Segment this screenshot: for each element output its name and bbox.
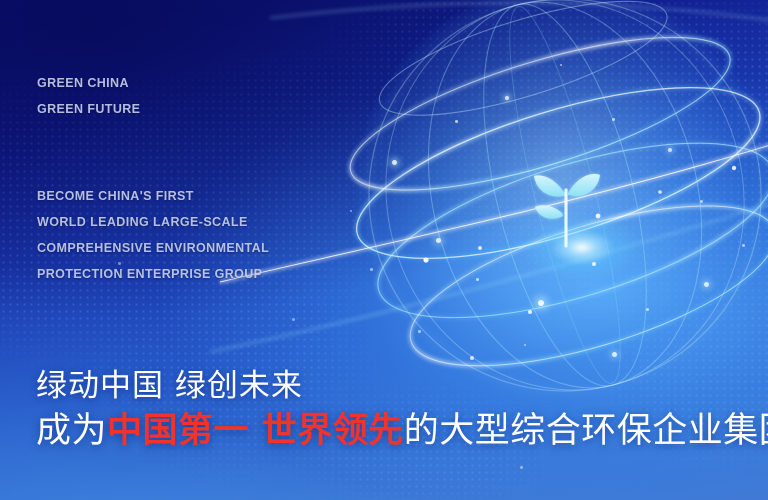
mission-line-2: WORLD LEADING LARGE-SCALE	[37, 209, 269, 235]
tagline-line-1: GREEN CHINA	[37, 70, 140, 96]
mission-line-1: BECOME CHINA'S FIRST	[37, 183, 269, 209]
english-mission-statement: BECOME CHINA'S FIRST WORLD LEADING LARGE…	[37, 183, 269, 287]
english-tagline: GREEN CHINA GREEN FUTURE	[37, 70, 140, 122]
mission-line-4: PROTECTION ENTERPRISE GROUP	[37, 261, 269, 287]
tagline-line-2: GREEN FUTURE	[37, 96, 140, 122]
green-sprout-icon	[524, 160, 608, 250]
hero-banner: GREEN CHINA GREEN FUTURE BECOME CHINA'S …	[0, 0, 768, 500]
headline-prefix: 成为	[36, 411, 107, 451]
mission-line-3: COMPREHENSIVE ENVIRONMENTAL	[37, 235, 269, 261]
headline-secondary: 成为中国第一 世界领先的大型综合环保企业集团	[36, 409, 768, 453]
headline-primary: 绿动中国 绿创未来	[36, 366, 303, 406]
headline-suffix: 的大型综合环保企业集团	[404, 411, 768, 451]
headline-highlight: 中国第一 世界领先	[107, 411, 404, 451]
